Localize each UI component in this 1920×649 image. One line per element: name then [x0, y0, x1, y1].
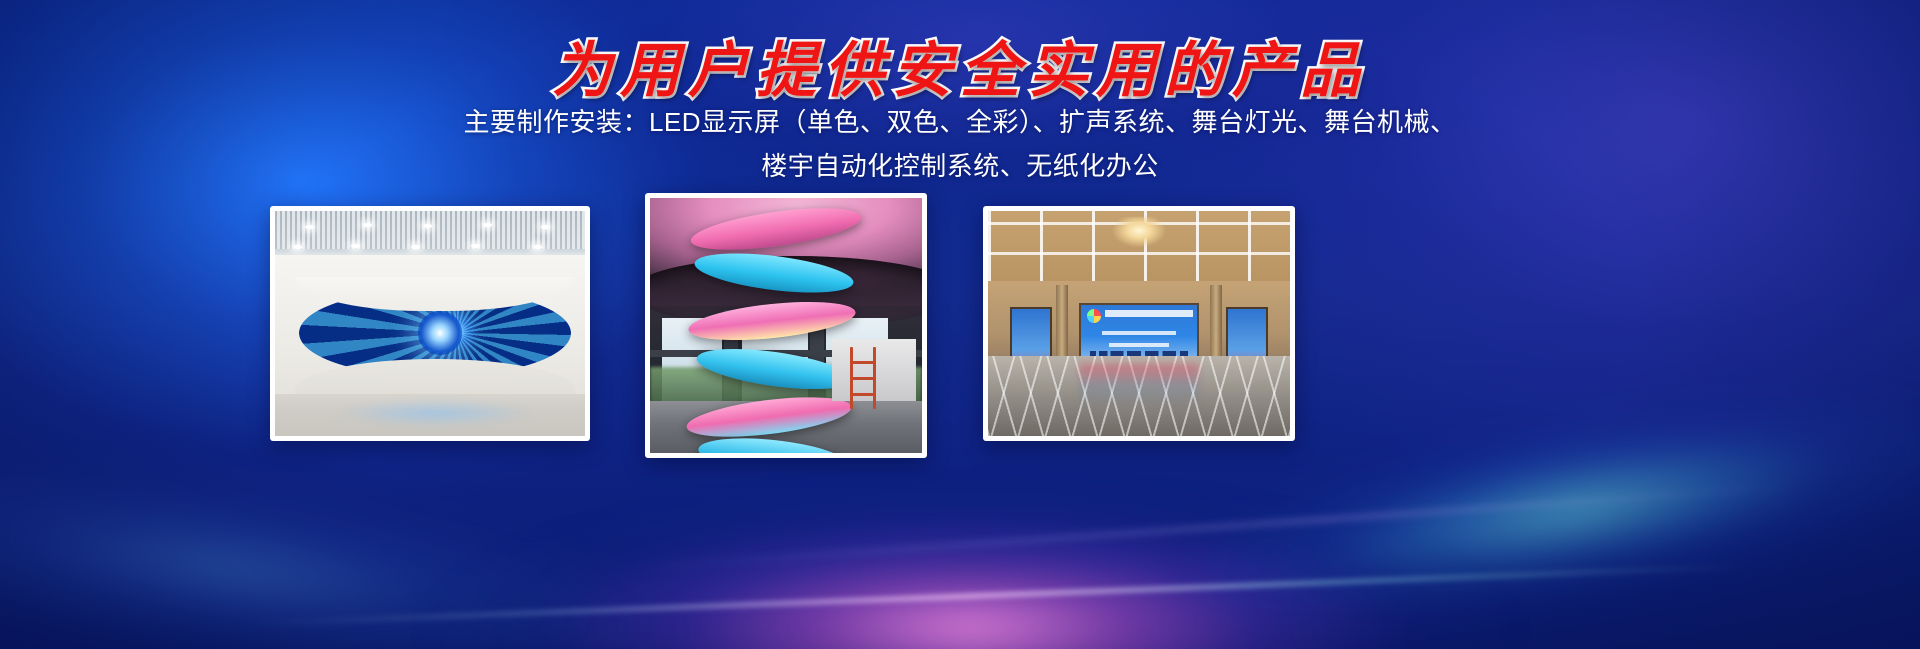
ceiling-spotlight	[293, 245, 302, 249]
ceiling-spotlight	[423, 224, 432, 228]
photo-eye-shaped-led-display	[275, 211, 585, 436]
step-ladder	[850, 347, 876, 409]
led-ribbon-segment	[693, 246, 856, 299]
ceiling-spotlight	[541, 225, 550, 229]
screen-text-line	[1109, 343, 1170, 347]
gallery-card-spiral-led-ribbon-display[interactable]	[645, 193, 927, 458]
photo-spiral-led-ribbon-display	[650, 198, 922, 453]
ceiling-spotlight	[471, 244, 480, 248]
chandelier-light	[1112, 217, 1166, 251]
ceiling-slats	[275, 211, 585, 257]
photo-conference-hall-led-screen	[988, 211, 1290, 436]
ceiling-spotlight	[483, 223, 492, 227]
floor-reflection	[1079, 364, 1200, 408]
ceiling-spotlight	[351, 244, 360, 248]
floor-reflection	[335, 400, 535, 426]
screen-title-bar	[1105, 310, 1194, 317]
led-ribbon-segment	[694, 341, 853, 396]
spiral-led-screen	[684, 212, 864, 453]
gallery-card-conference-hall-led-screen[interactable]	[983, 206, 1295, 441]
led-ribbon-segment	[685, 390, 854, 444]
company-logo-icon	[1087, 309, 1101, 323]
ceiling-spotlight	[305, 225, 314, 229]
promo-banner: 为用户提供安全实用的产品 主要制作安装：LED显示屏（单色、双色、全彩）、扩声系…	[0, 0, 1920, 649]
ceiling-spotlight	[411, 245, 420, 249]
ceiling-spotlight	[363, 223, 372, 227]
gallery-card-eye-shaped-led-display[interactable]	[270, 206, 590, 441]
photo-gallery	[0, 0, 1920, 649]
ceiling-spotlight	[533, 245, 542, 249]
screen-text-line	[1102, 331, 1177, 335]
